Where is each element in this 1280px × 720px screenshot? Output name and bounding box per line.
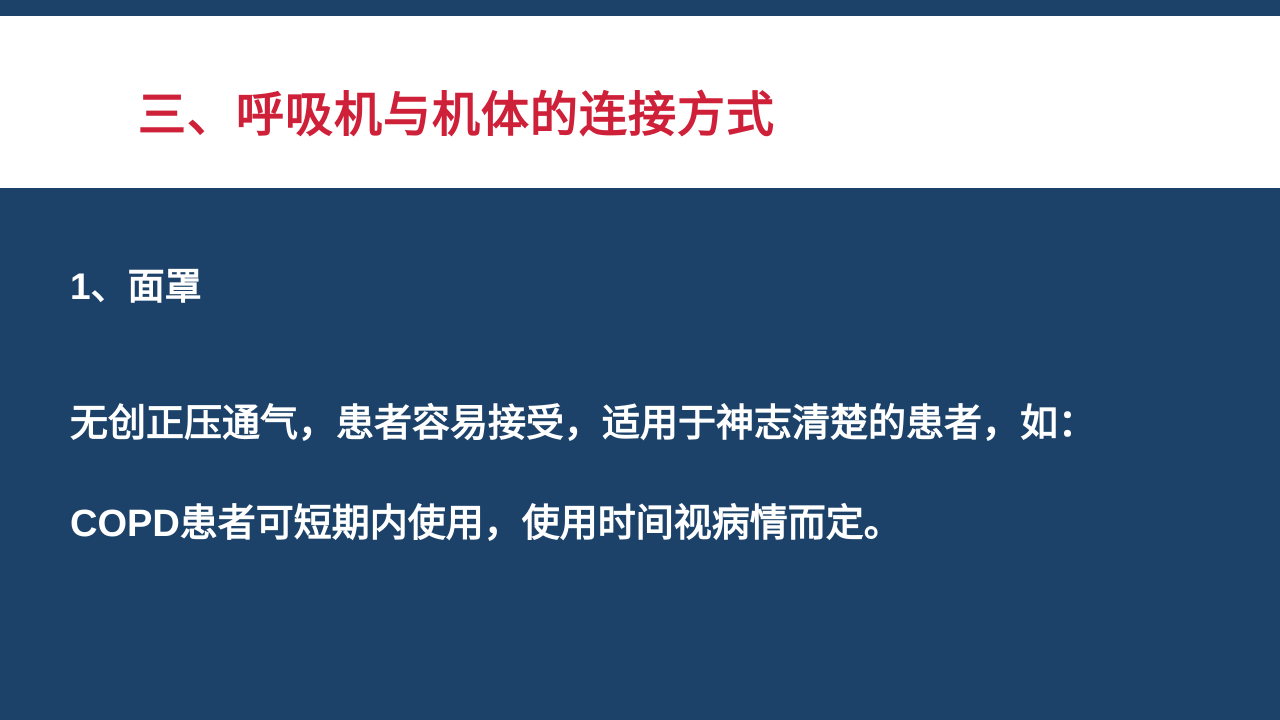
body-paragraph: 无创正压通气，患者容易接受，适用于神志清楚的患者，如： COPD患者可短期内使用… xyxy=(70,374,1230,574)
paragraph-line-1: 无创正压通气，患者容易接受，适用于神志清楚的患者，如： xyxy=(70,374,1230,474)
section-subheading: 1、面罩 xyxy=(70,256,202,310)
paragraph-line-2: COPD患者可短期内使用，使用时间视病情而定。 xyxy=(70,474,1230,574)
presentation-slide: 三、呼吸机与机体的连接方式 1、面罩 无创正压通气，患者容易接受，适用于神志清楚… xyxy=(0,0,1280,720)
title-band: 三、呼吸机与机体的连接方式 xyxy=(0,16,1280,188)
slide-body: 1、面罩 无创正压通气，患者容易接受，适用于神志清楚的患者，如： COPD患者可… xyxy=(0,188,1280,720)
slide-title: 三、呼吸机与机体的连接方式 xyxy=(138,88,775,143)
top-accent-bar xyxy=(0,0,1280,16)
